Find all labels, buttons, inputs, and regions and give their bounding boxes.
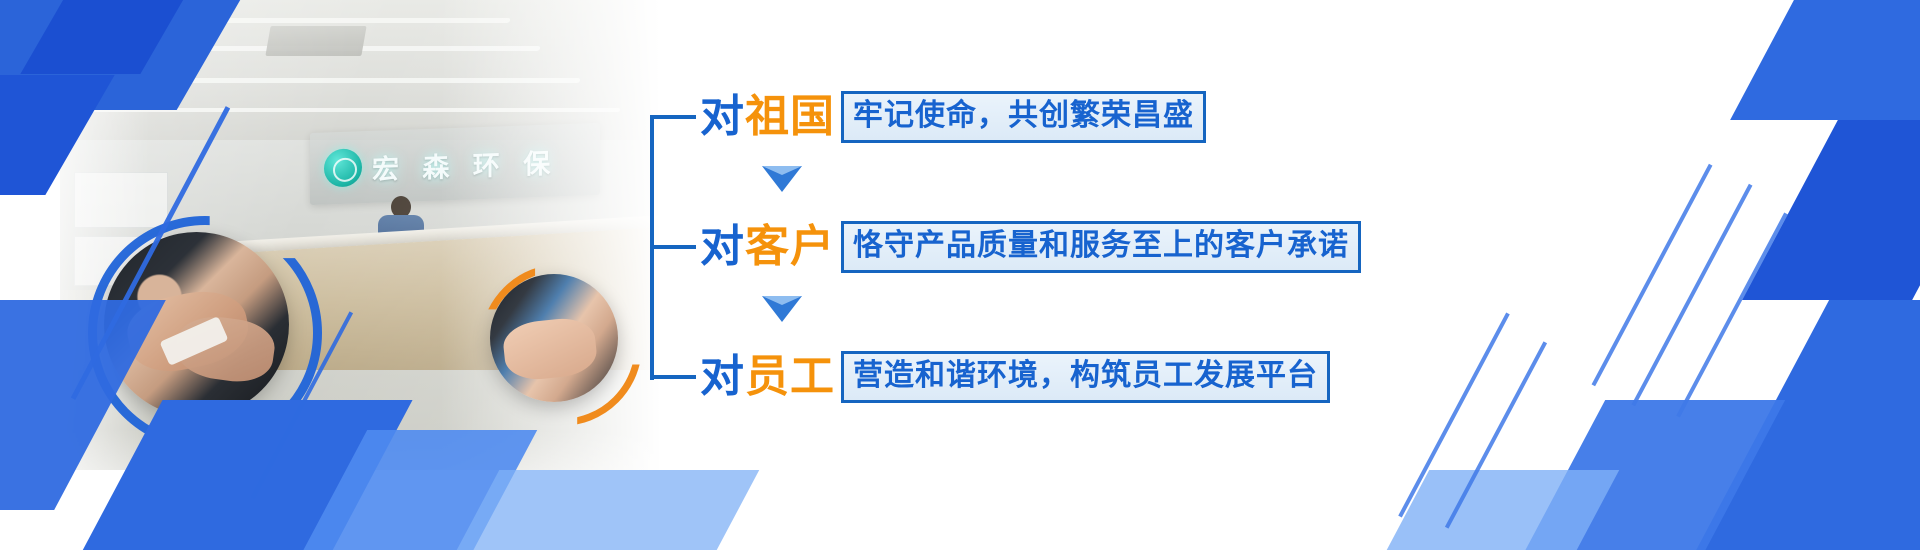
decor-parallelogram-right-5 [1371,470,1619,550]
value-statement-3: 营造和谐环境，构筑员工发展平台 [841,351,1330,403]
value-statement-2: 恪守产品质量和服务至上的客户承诺 [841,221,1361,273]
promo-banner: 宏 森 环 保 [0,0,1920,550]
value-item-3: 对员工 营造和谐环境，构筑员工发展平台 [650,348,1330,406]
down-triangle-icon [762,166,802,192]
down-triangle-icon [762,296,802,322]
connector-tick [650,115,696,119]
ceiling-vent [265,26,366,56]
value-subject: 祖国 [745,91,835,142]
value-prefix: 对 [700,221,745,272]
value-statement-1: 牢记使命，共创繁荣昌盛 [841,91,1206,143]
value-prefix: 对 [700,351,745,402]
decor-diagonal-line-right-3 [1676,213,1788,418]
value-prefix: 对 [700,91,745,142]
value-lead-1: 对祖国 [700,95,835,139]
value-lead-3: 对员工 [700,355,835,399]
decor-parallelogram-right-2 [1742,120,1920,300]
value-subject: 员工 [745,351,835,402]
connector-tick [650,375,696,379]
decor-diagonal-line-right-2 [1632,184,1753,407]
value-item-1: 对祖国 牢记使命，共创繁荣昌盛 [650,88,1206,146]
globe-leaf-icon [324,148,362,187]
value-item-2: 对客户 恪守产品质量和服务至上的客户承诺 [650,218,1361,276]
decor-diagonal-line-right-1 [1592,164,1713,387]
value-lead-2: 对客户 [700,225,835,269]
decor-parallelogram-right-1 [1730,0,1920,120]
connector-tick [650,245,696,249]
value-subject: 客户 [745,221,835,272]
values-list: 对祖国 牢记使命，共创繁荣昌盛 对客户 恪守产品质量和服务至上的客户承诺 对员工… [650,70,1370,390]
